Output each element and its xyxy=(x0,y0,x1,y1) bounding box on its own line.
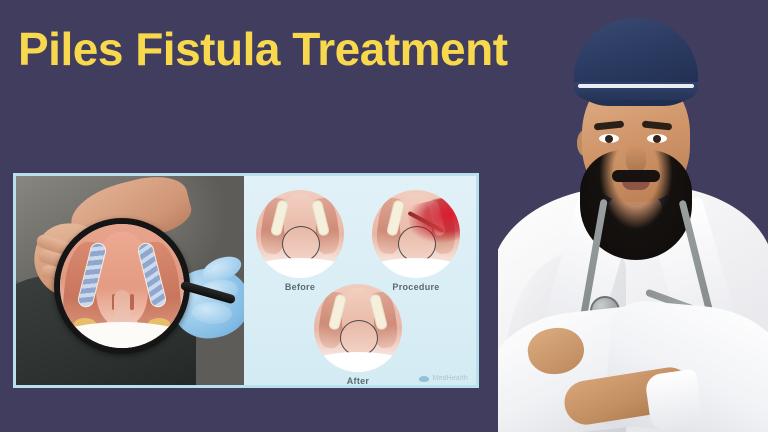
pupil xyxy=(605,135,613,143)
page-title: Piles Fistula Treatment xyxy=(18,20,508,78)
target-ring xyxy=(340,320,378,356)
diagram-after-circle xyxy=(314,284,402,372)
target-ring xyxy=(282,226,320,262)
diagram-before-circle xyxy=(256,190,344,278)
diagram-procedure: Procedure xyxy=(372,190,460,292)
anatomy-fold xyxy=(130,294,134,310)
banner: Piles Fistula Treatment xyxy=(0,0,768,432)
doctor-eye-left xyxy=(599,134,619,143)
doctor-moustache xyxy=(612,170,660,182)
pupil xyxy=(653,135,661,143)
diagram-before: Before xyxy=(256,190,344,292)
watermark: MedHealth xyxy=(419,375,468,382)
watermark-logo-icon xyxy=(419,376,429,382)
surgical-cap-piping xyxy=(578,84,694,88)
doctor-eye-right xyxy=(647,134,667,143)
coat-cuff xyxy=(644,369,704,432)
procedure-diagrams: Before Procedure xyxy=(244,176,476,385)
diagram-base xyxy=(314,352,402,372)
magnifier-lens xyxy=(54,218,190,354)
diagram-after-label: After xyxy=(314,376,402,386)
watermark-text: MedHealth xyxy=(432,375,468,382)
medical-image-panel: Before Procedure xyxy=(13,173,479,388)
diagram-base xyxy=(372,258,460,278)
diagram-procedure-circle xyxy=(372,190,460,278)
patient-with-magnifier-photo xyxy=(16,176,244,385)
diagram-base xyxy=(256,258,344,278)
doctor-portrait xyxy=(498,0,768,432)
diagram-after: After xyxy=(314,284,402,386)
